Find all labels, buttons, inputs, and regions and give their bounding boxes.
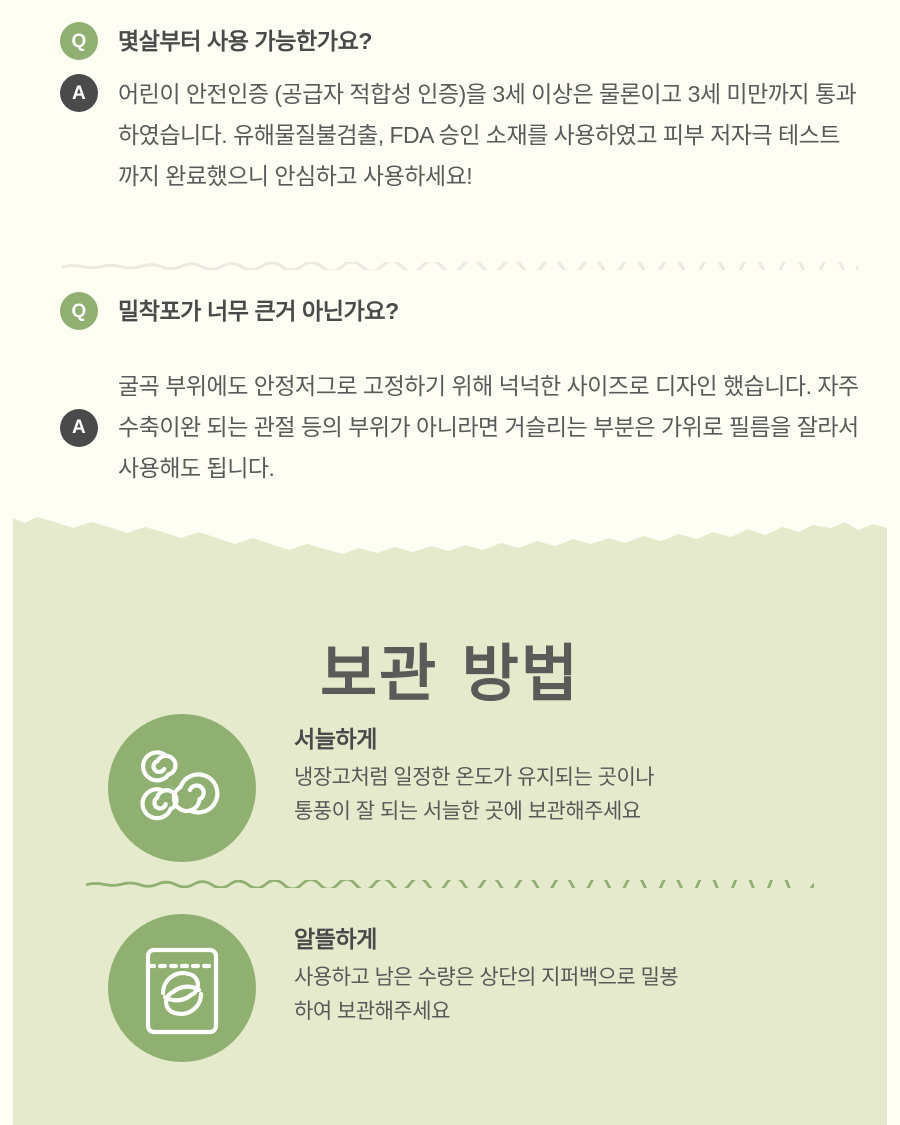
faq-item: Q 몇살부터 사용 가능한가요? A 어린이 안전인증 (공급자 적합성 인증)… — [60, 22, 860, 197]
faq-section: Q 몇살부터 사용 가능한가요? A 어린이 안전인증 (공급자 적합성 인증)… — [0, 0, 900, 520]
storage-item-title: 서늘하게 — [294, 724, 654, 755]
faq-question-text: 몇살부터 사용 가능한가요? — [118, 22, 372, 60]
faq-question-row: Q 밀착포가 너무 큰거 아닌가요? — [60, 292, 860, 330]
faq-divider — [62, 262, 858, 270]
faq-answer-text: 어린이 안전인증 (공급자 적합성 인증)을 3세 이상은 물론이고 3세 미만… — [118, 74, 860, 197]
answer-badge-icon: A — [60, 409, 98, 447]
faq-question-row: Q 몇살부터 사용 가능한가요? — [60, 22, 860, 60]
spacer — [60, 330, 860, 366]
swirl-breeze-icon — [108, 714, 256, 862]
faq-question-text: 밀착포가 너무 큰거 아닌가요? — [118, 292, 399, 330]
question-badge-icon: Q — [60, 22, 98, 60]
faq-answer-text: 굴곡 부위에도 안정저그로 고정하기 위해 넉넉한 사이즈로 디자인 했습니다.… — [118, 366, 860, 489]
storage-item-copy: 알뜰하게 사용하고 남은 수량은 상단의 지퍼백으로 밀봉 하여 보관해주세요 — [294, 914, 678, 1029]
question-badge-icon: Q — [60, 292, 98, 330]
storage-item-description: 냉장고처럼 일정한 온도가 유지되는 곳이나 통풍이 잘 되는 서늘한 곳에 보… — [294, 761, 654, 829]
storage-divider — [86, 880, 814, 888]
storage-item: 서늘하게 냉장고처럼 일정한 온도가 유지되는 곳이나 통풍이 잘 되는 서늘한… — [108, 714, 848, 862]
storage-item-description: 사용하고 남은 수량은 상단의 지퍼백으로 밀봉 하여 보관해주세요 — [294, 961, 678, 1029]
answer-badge-icon: A — [60, 74, 98, 112]
faq-answer-row: A 어린이 안전인증 (공급자 적합성 인증)을 3세 이상은 물론이고 3세 … — [60, 74, 860, 197]
faq-answer-row: A 굴곡 부위에도 안정저그로 고정하기 위해 넉넉한 사이즈로 디자인 했습니… — [60, 366, 860, 489]
faq-item: Q 밀착포가 너무 큰거 아닌가요? A 굴곡 부위에도 안정저그로 고정하기 … — [60, 292, 860, 489]
storage-section: 보관 방법 서늘하게 냉장고처럼 일정한 온도가 유지되는 곳이나 통풍이 잘 … — [13, 514, 887, 1125]
storage-item: 알뜰하게 사용하고 남은 수량은 상단의 지퍼백으로 밀봉 하여 보관해주세요 — [108, 914, 848, 1062]
storage-item-title: 알뜰하게 — [294, 924, 678, 955]
spacer — [60, 60, 860, 74]
storage-item-copy: 서늘하게 냉장고처럼 일정한 온도가 유지되는 곳이나 통풍이 잘 되는 서늘한… — [294, 714, 654, 829]
zipper-pouch-icon — [108, 914, 256, 1062]
storage-title: 보관 방법 — [13, 643, 887, 705]
